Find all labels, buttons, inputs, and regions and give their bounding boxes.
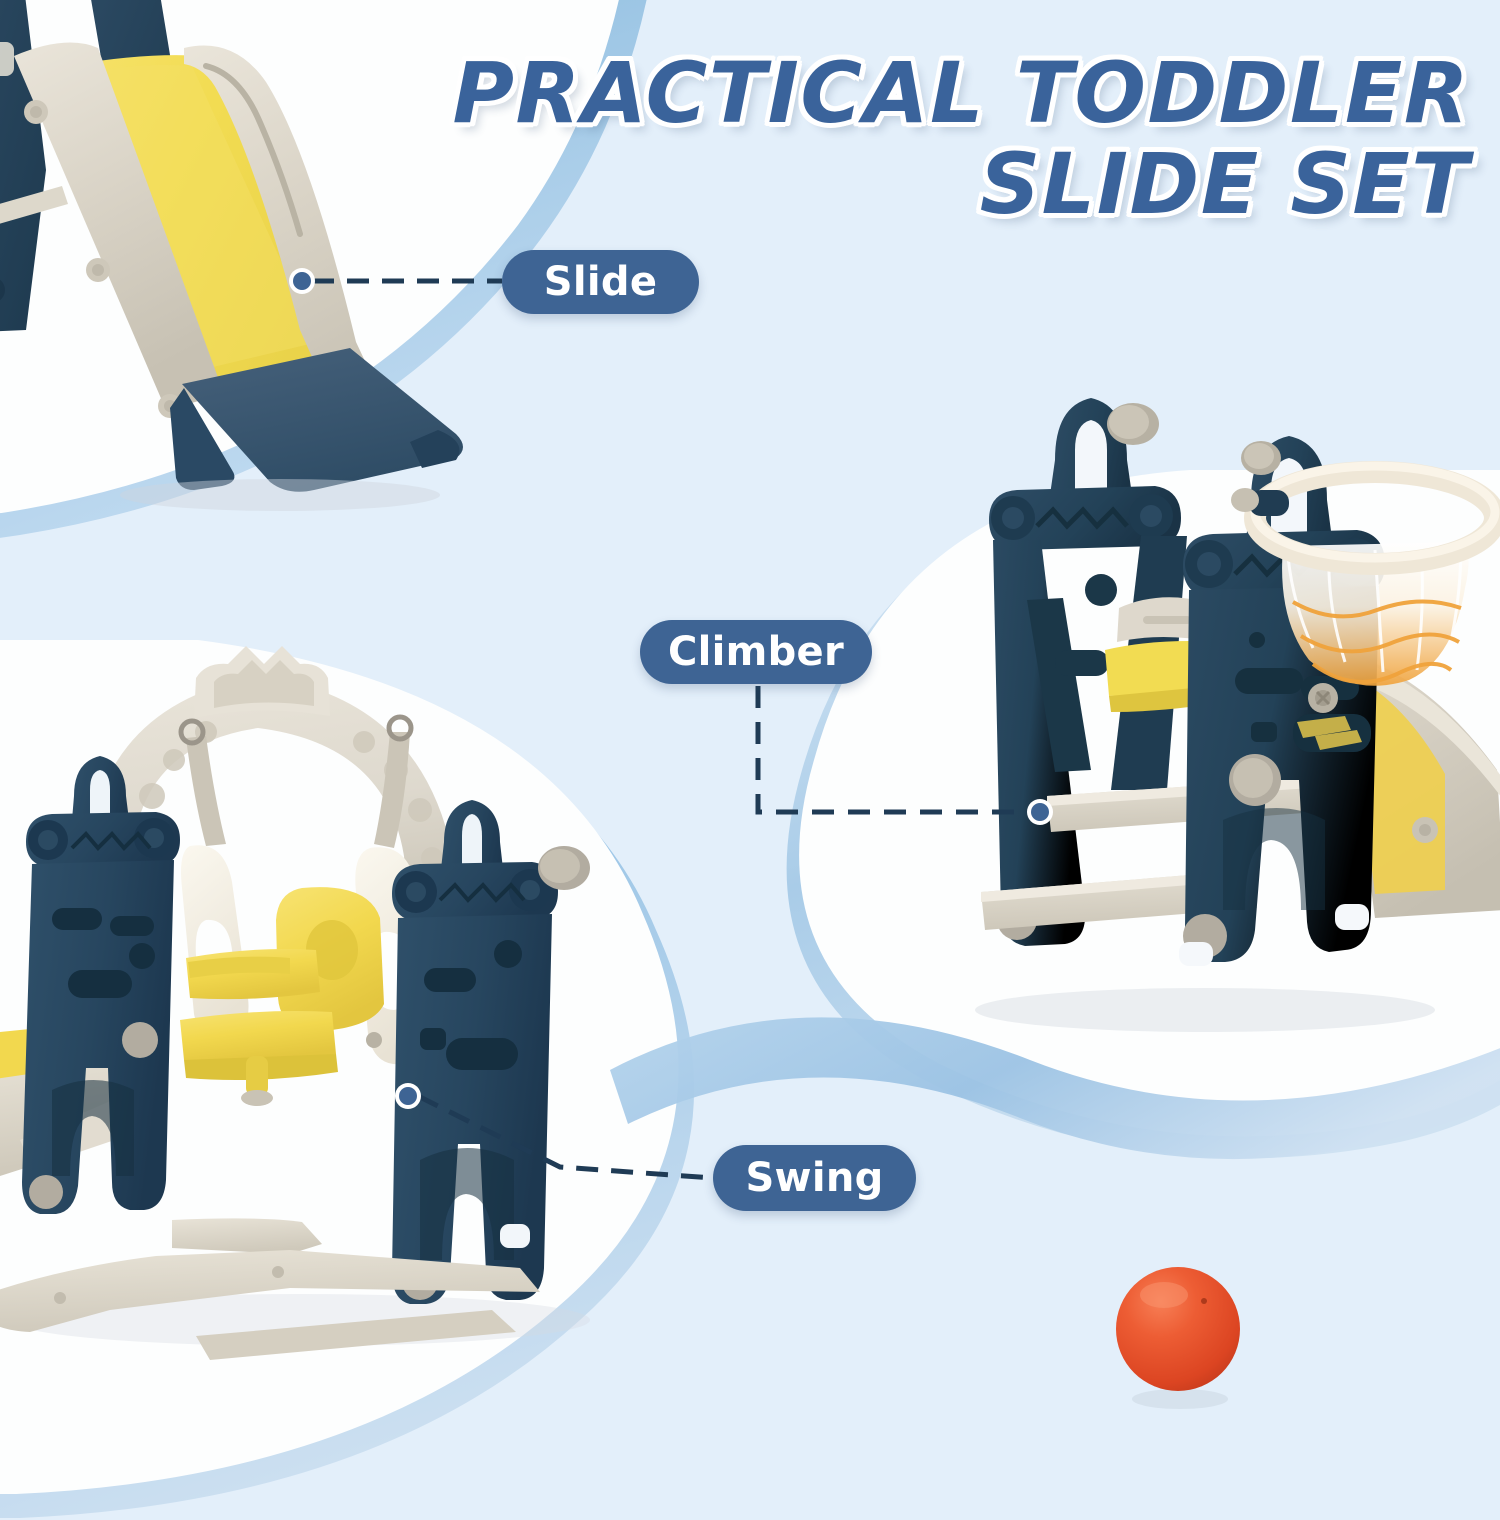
climber-tower-right: [1179, 436, 1385, 966]
climber-hex-knob: [1229, 754, 1281, 806]
callout-label-swing: Swing: [745, 1155, 883, 1201]
callout-pill-swing[interactable]: Swing: [713, 1145, 916, 1211]
swing-hex-knob: [538, 846, 590, 890]
play-ball-photo: [1100, 1255, 1260, 1415]
callout-pill-slide[interactable]: Slide: [502, 250, 699, 314]
swing-seat: [180, 887, 384, 1106]
climber-knob-left: [1107, 403, 1159, 445]
swing-product-photo: [0, 620, 640, 1380]
climber-knob-right: [1241, 441, 1281, 475]
swing-tower-left: [22, 756, 180, 1214]
climber-product-photo: [905, 350, 1500, 1060]
callout-label-slide: Slide: [544, 259, 658, 305]
callout-pill-climber[interactable]: Climber: [640, 620, 872, 684]
swing-tower-right: [392, 800, 590, 1304]
callout-label-climber: Climber: [668, 629, 844, 675]
infographic-stage: PRACTICAL TODDLER SLIDE SET Slide Climbe…: [0, 0, 1500, 1500]
